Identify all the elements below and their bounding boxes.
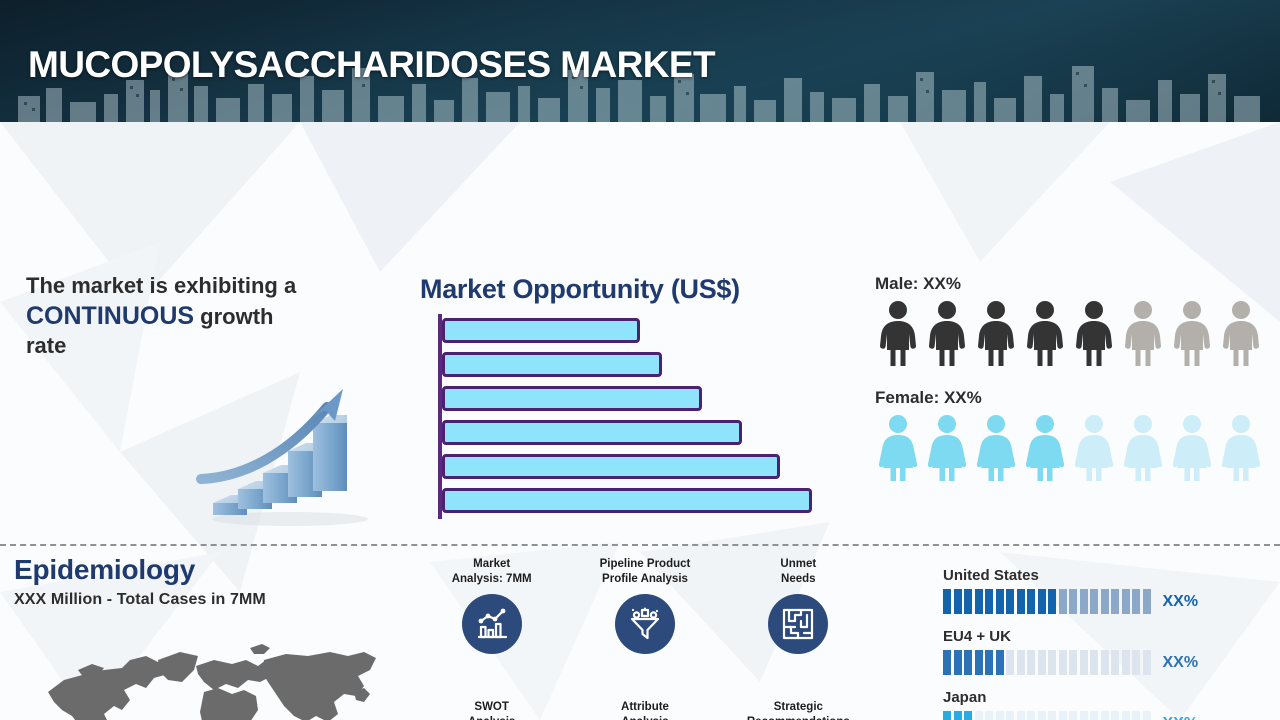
growth-arrow-bars-icon — [185, 377, 390, 527]
region-name: EU4 + UK — [943, 628, 1233, 645]
gauge-segment — [1069, 589, 1077, 614]
gauge-segment — [1080, 650, 1088, 675]
gauge-segment — [1080, 589, 1088, 614]
male-figure-icon — [1169, 300, 1215, 368]
male-label: Male: XX% — [875, 274, 1265, 294]
gauge-segment — [975, 589, 983, 614]
gauge-segment — [964, 711, 972, 720]
region-gauges: United StatesXX%EU4 + UKXX%JapanXX% — [943, 567, 1233, 720]
gauge-segment — [1122, 711, 1130, 720]
gauge-segment — [1143, 711, 1151, 720]
page-title: MUCOPOLYSACCHARIDOSES MARKET — [28, 44, 715, 86]
gauge-segment — [1048, 589, 1056, 614]
gauge-segment — [975, 650, 983, 675]
region-gauge: United StatesXX% — [943, 567, 1233, 614]
gender-split: Male: XX% Female: XX% — [875, 274, 1265, 502]
gauge-segment — [943, 711, 951, 720]
gauge-segment — [1101, 711, 1109, 720]
gauge-segment — [975, 711, 983, 720]
male-pictogram-row — [875, 300, 1265, 368]
statement-line-2: CONTINUOUS growth — [26, 300, 396, 332]
gauge-segment — [996, 650, 1004, 675]
service-label: Pipeline Product Profile Analysis — [600, 557, 691, 589]
statement-line-1: The market is exhibiting a — [26, 272, 396, 300]
male-figure-icon — [924, 300, 970, 368]
gauge-segment — [1027, 589, 1035, 614]
gauge-segment — [1101, 650, 1109, 675]
region-percentage: XX% — [1163, 654, 1199, 672]
page-header: MUCOPOLYSACCHARIDOSES MARKET — [0, 0, 1280, 122]
service-label: Attribute Analysis — [621, 700, 669, 720]
opportunity-bar — [442, 454, 780, 479]
gauge-segment — [1059, 711, 1067, 720]
gauge-segment — [954, 711, 962, 720]
gauge-segment — [1027, 711, 1035, 720]
market-statement: The market is exhibiting a CONTINUOUS gr… — [26, 272, 396, 360]
opportunity-bar — [442, 488, 812, 513]
world-map-icon — [18, 630, 408, 720]
gauge-segment — [1132, 589, 1140, 614]
gauge-segment — [1048, 650, 1056, 675]
gauge-segment — [1069, 711, 1077, 720]
statement-line-2-rest: growth — [194, 304, 273, 329]
region-gauge: JapanXX% — [943, 689, 1233, 720]
female-figure-icon — [875, 414, 921, 482]
female-figure-icon — [1120, 414, 1166, 482]
region-name: United States — [943, 567, 1233, 584]
gauge-segment — [1038, 711, 1046, 720]
region-percentage: XX% — [1163, 593, 1199, 611]
female-figure-icon — [924, 414, 970, 482]
region-gauge: EU4 + UKXX% — [943, 628, 1233, 675]
female-pictogram-row — [875, 414, 1265, 482]
gauge-segment — [1017, 589, 1025, 614]
gauge-segment — [1006, 711, 1014, 720]
gauge-segment — [1111, 711, 1119, 720]
gauge-segment — [964, 589, 972, 614]
female-figure-icon — [1022, 414, 1068, 482]
services-icon-grid: Market Analysis: 7MMPipeline Product Pro… — [415, 557, 875, 720]
gauge-segment — [1132, 650, 1140, 675]
gauge-segment — [1048, 711, 1056, 720]
market-opportunity-chart — [420, 314, 840, 526]
gauge-segment — [1090, 650, 1098, 675]
service-label: Strategic Recommendations — [747, 700, 850, 720]
gauge-segment — [1006, 589, 1014, 614]
service-label: Market Analysis: 7MM — [452, 557, 532, 589]
gauge-segment — [996, 589, 1004, 614]
gauge-segment — [1111, 650, 1119, 675]
male-figure-icon — [1022, 300, 1068, 368]
opportunity-bar — [442, 386, 702, 411]
epidemiology-block: Epidemiology XXX Million - Total Cases i… — [14, 554, 414, 609]
bar-chart-trend-icon[interactable] — [462, 594, 522, 654]
service-label: Unmet Needs — [780, 557, 816, 589]
market-opportunity-title: Market Opportunity (US$) — [420, 274, 740, 305]
region-segment-bar — [943, 650, 1151, 675]
male-figure-icon — [973, 300, 1019, 368]
opportunity-bar — [442, 352, 662, 377]
female-figure-icon — [1169, 414, 1215, 482]
service-item[interactable]: Market Analysis: 7MM — [415, 557, 568, 700]
gauge-segment — [1017, 650, 1025, 675]
female-figure-icon — [1218, 414, 1264, 482]
chart-axis — [438, 314, 442, 519]
gauge-segment — [985, 650, 993, 675]
service-item[interactable]: Strategic Recommendations — [722, 700, 875, 720]
gauge-segment — [1006, 650, 1014, 675]
service-item[interactable]: Attribute Analysis — [568, 700, 721, 720]
region-segment-bar — [943, 589, 1151, 614]
service-item[interactable]: Pipeline Product Profile Analysis — [568, 557, 721, 700]
gauge-segment — [1017, 711, 1025, 720]
statement-line-3: rate — [26, 332, 396, 360]
female-figure-icon — [973, 414, 1019, 482]
gauge-segment — [1080, 711, 1088, 720]
opportunity-bar — [442, 318, 640, 343]
epidemiology-subtitle: XXX Million - Total Cases in 7MM — [14, 591, 414, 609]
gauge-segment — [1090, 711, 1098, 720]
service-label: SWOT Analysis — [468, 700, 515, 720]
gauge-segment — [1038, 650, 1046, 675]
male-figure-icon — [1218, 300, 1264, 368]
gauge-segment — [1122, 650, 1130, 675]
gauge-segment — [954, 589, 962, 614]
male-figure-icon — [1120, 300, 1166, 368]
region-name: Japan — [943, 689, 1233, 706]
gauge-segment — [996, 711, 1004, 720]
service-item[interactable]: Unmet Needs — [722, 557, 875, 700]
gauge-segment — [985, 711, 993, 720]
gauge-segment — [1059, 650, 1067, 675]
region-segment-bar — [943, 711, 1151, 720]
gauge-segment — [985, 589, 993, 614]
gauge-segment — [1143, 650, 1151, 675]
epidemiology-title: Epidemiology — [14, 554, 414, 586]
infographic-body: The market is exhibiting a CONTINUOUS gr… — [0, 122, 1280, 720]
gauge-segment — [1027, 650, 1035, 675]
section-divider — [0, 544, 1280, 546]
gauge-segment — [1111, 589, 1119, 614]
gauge-segment — [943, 589, 951, 614]
maze-icon[interactable] — [768, 594, 828, 654]
male-figure-icon — [875, 300, 921, 368]
funnel-icon[interactable] — [615, 594, 675, 654]
female-figure-icon — [1071, 414, 1117, 482]
gauge-segment — [1090, 589, 1098, 614]
gauge-segment — [964, 650, 972, 675]
gauge-segment — [1069, 650, 1077, 675]
male-figure-icon — [1071, 300, 1117, 368]
gauge-segment — [954, 650, 962, 675]
gauge-segment — [1143, 589, 1151, 614]
opportunity-bar — [442, 420, 742, 445]
service-item[interactable]: SWOT Analysis — [415, 700, 568, 720]
gauge-segment — [943, 650, 951, 675]
gauge-segment — [1101, 589, 1109, 614]
gauge-segment — [1059, 589, 1067, 614]
gauge-segment — [1122, 589, 1130, 614]
gauge-segment — [1132, 711, 1140, 720]
female-label: Female: XX% — [875, 388, 1265, 408]
gauge-segment — [1038, 589, 1046, 614]
statement-highlight: CONTINUOUS — [26, 302, 194, 330]
region-percentage: XX% — [1163, 715, 1199, 720]
